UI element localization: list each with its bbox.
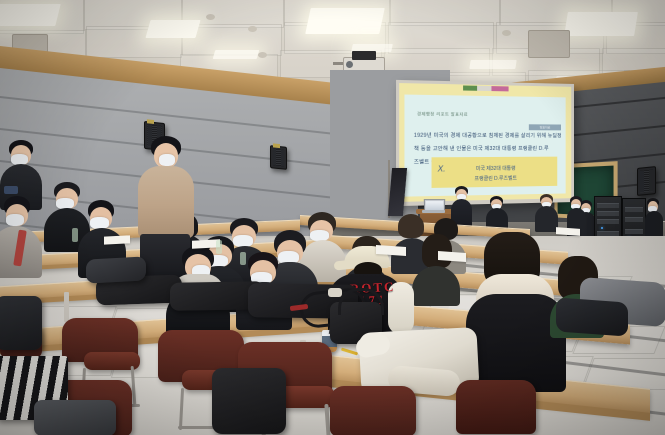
paper-sheet: [104, 235, 130, 244]
ceiling-light-panel: [305, 8, 385, 34]
bag-strap: [338, 288, 384, 315]
slide-tag-label: 발표자료: [529, 124, 561, 130]
slide-callout-line-1: 미국 제32대 대통령: [432, 164, 558, 172]
backpack: [86, 256, 146, 283]
black-backpack: [212, 368, 286, 434]
water-bottle: [240, 252, 246, 265]
slide-title: 경제행정 리포트 발표자료: [417, 111, 468, 118]
smoke-detector-icon: [206, 14, 215, 20]
slide-line-1: 1929년 미국의 경제 대공황으로 침체된 경제를 살리기 위해 뉴딜정: [414, 132, 562, 139]
wall-speaker: [270, 145, 287, 170]
slide-body: 경제행정 리포트 발표자료 발표자료 1929년 미국의 경제 대공황으로 침체…: [404, 95, 565, 197]
ceiling-light-panel: [213, 50, 260, 59]
lecture-hall-photo: 경제행정 리포트 발표자료 발표자료 1929년 미국의 경제 대공황으로 침체…: [0, 0, 665, 435]
desk-leg: [64, 292, 69, 322]
ceiling-vent: [528, 30, 570, 58]
dark-jacket: [556, 297, 628, 336]
wall-speaker: [637, 166, 656, 196]
face-mask: [159, 154, 175, 166]
water-bottle: [72, 228, 78, 242]
projection-screen: 경제행정 리포트 발표자료 발표자료 1929년 미국의 경제 대공황으로 침체…: [396, 80, 574, 206]
smoke-detector-icon: [248, 26, 257, 32]
slide: 경제행정 리포트 발표자료 발표자료 1929년 미국의 경제 대공황으로 침체…: [399, 83, 571, 202]
grey-bag: [34, 400, 116, 435]
ceiling-light-panel: [564, 12, 638, 36]
water-bottle: [216, 240, 222, 254]
smoke-detector-icon: [502, 30, 511, 36]
paper-sheet: [438, 251, 466, 262]
slide-toolbar: [463, 85, 509, 91]
ceiling-light-panel: [469, 60, 516, 69]
slide-line-2: 책 등을 고안해 낸 인물은 미국 제32대 대통령 프랭클린 D.루: [414, 145, 549, 152]
slide-callout-line-2: 프랭클린 D.루즈벨트: [432, 174, 558, 183]
laptop-base: [422, 210, 445, 213]
face-mask: [6, 214, 24, 226]
smoke-detector-icon: [258, 52, 267, 58]
slide-callout-box: X. 미국 제32대 대통령 프랭클린 D.루즈벨트: [432, 157, 558, 188]
ceiling-light-panel: [0, 4, 61, 26]
backpack-logo: [328, 288, 342, 297]
slide-tag: 발표자료: [529, 124, 561, 130]
black-backpack: [0, 296, 42, 350]
ceiling-light-panel: [145, 20, 200, 38]
